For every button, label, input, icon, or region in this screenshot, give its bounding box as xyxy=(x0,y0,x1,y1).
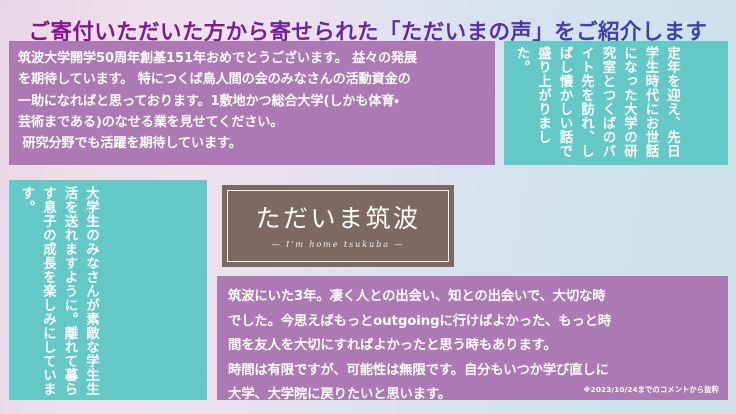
brand-logo-frame: ただいま筑波 — I'm home tsukuba — xyxy=(227,190,449,262)
comment-text: 筑波大学開学50周年創基151年おめでとうございます。 益々の発展 を期待してい… xyxy=(18,48,487,154)
comment-text-vertical: 大学生のみなさんが素敵な学生生活を送れますように。離れて暮らす息子の成長を楽しみ… xyxy=(15,186,101,396)
comment-card-right-teal: 定年を迎え、先日学生時代にお世話になった大学の研究室とつくばのバイト先を訪れ、し… xyxy=(504,41,728,165)
comment-card-bottom-purple: 筑波にいた3年。凄く人との出会い、知との出会いで、大切な時 でした。今思えばもっ… xyxy=(217,276,728,400)
comment-card-left-teal: 大学生のみなさんが素敵な学生生活を送れますように。離れて暮らす息子の成長を楽しみ… xyxy=(9,180,207,400)
footnote-text: ※2023/10/24までのコメントから抜粋 xyxy=(583,385,719,395)
brand-logo-plaque: ただいま筑波 — I'm home tsukuba — xyxy=(222,185,454,267)
comment-text-vertical: 定年を迎え、先日学生時代にお世話になった大学の研究室とつくばのバイト先を訪れ、し… xyxy=(510,46,682,161)
brand-logo-title: ただいま筑波 xyxy=(255,204,420,234)
slide-canvas: ご寄付いただいた方から寄せられた「ただいまの声」をご紹介します 筑波大学開学50… xyxy=(0,0,736,414)
brand-logo-tagline: — I'm home tsukuba — xyxy=(272,239,405,249)
comment-card-top-purple: 筑波大学開学50周年創基151年おめでとうございます。 益々の発展 を期待してい… xyxy=(9,41,495,165)
